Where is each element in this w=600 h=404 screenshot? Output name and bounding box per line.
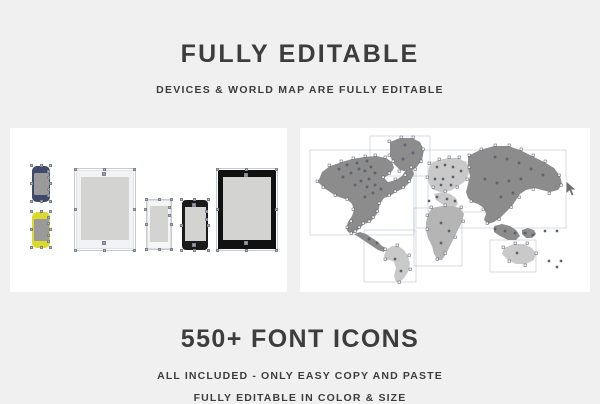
- cursor-arrow-icon: [565, 180, 579, 198]
- map-region-australia: [502, 244, 536, 264]
- devices-showcase-panel: [10, 128, 287, 292]
- handle-phone-black-top[interactable]: [192, 203, 196, 207]
- device-tablet-white-body[interactable]: [76, 170, 134, 249]
- promo-page: FULLY EDITABLE DEVICES & WORLD MAP ARE F…: [0, 0, 600, 400]
- page-title: FULLY EDITABLE: [0, 40, 600, 69]
- handle-phone-black-bottom[interactable]: [192, 243, 196, 247]
- map-region-south-america: [384, 246, 410, 282]
- screen-tablet-white: [81, 177, 129, 240]
- handle-tablet-white-top-center[interactable]: [102, 172, 106, 176]
- footer-subtitle-secondary: FULLY EDITABLE IN COLOR & SIZE: [0, 392, 600, 404]
- handle-tablet-white-bottom-center[interactable]: [102, 241, 106, 245]
- screen-tablet-black: [223, 177, 271, 240]
- handle-tablet-black-top-center[interactable]: [244, 173, 248, 177]
- page-subtitle: DEVICES & WORLD MAP ARE FULLY EDITABLE: [0, 84, 600, 96]
- devices-stage: [10, 128, 287, 292]
- world-map-vector[interactable]: [308, 134, 582, 286]
- handle-tablet-black-bottom-center[interactable]: [244, 241, 248, 245]
- map-region-greenland: [390, 138, 424, 172]
- map-region-europe: [428, 158, 470, 208]
- world-map-svg: [308, 134, 582, 286]
- screen-phone-white: [150, 206, 168, 242]
- screen-phone-black: [185, 207, 206, 241]
- footer-subtitle: ALL INCLUDED - ONLY EASY COPY AND PASTE: [0, 370, 600, 382]
- device-tablet-black-body[interactable]: [218, 170, 276, 249]
- footer-title: 550+ FONT ICONS: [0, 325, 600, 354]
- world-map-showcase-panel: [300, 128, 590, 292]
